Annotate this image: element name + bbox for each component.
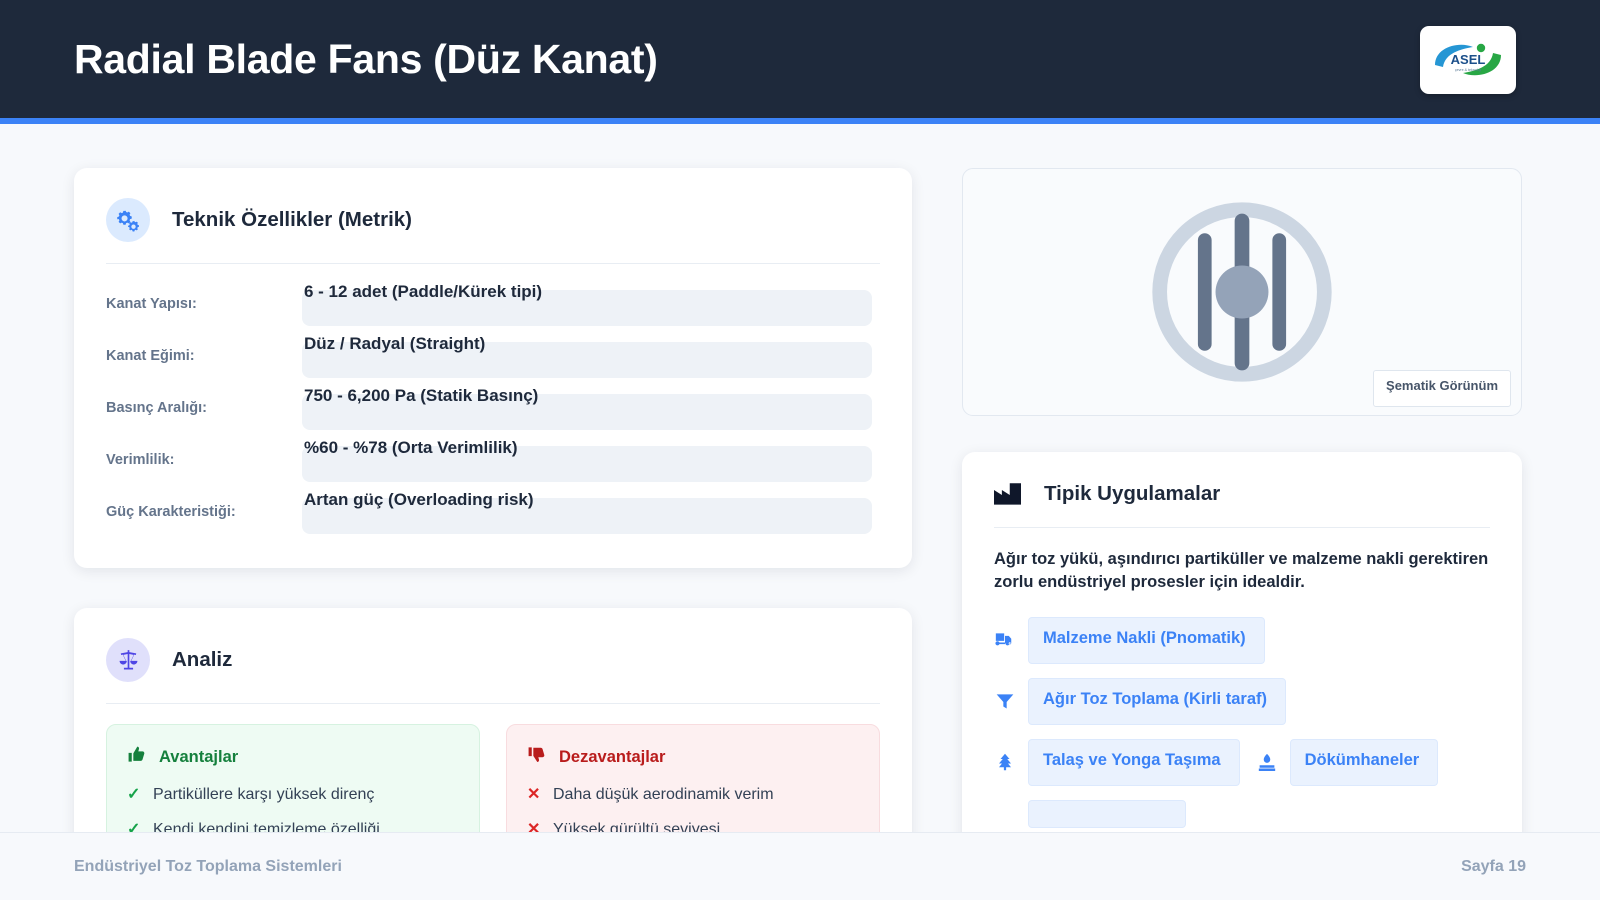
company-logo: ASEL çevre & teknoloji — [1420, 26, 1516, 94]
application-chip[interactable] — [994, 800, 1186, 828]
spec-key: Kanat Yapısı: — [106, 280, 302, 312]
thumbs-down-icon — [527, 745, 546, 769]
spec-key: Verimlilik: — [106, 436, 302, 468]
application-chip[interactable]: Dökümhaneler — [1256, 739, 1439, 786]
truck-loading-icon — [994, 629, 1016, 651]
svg-text:ASEL: ASEL — [1451, 52, 1486, 67]
spec-value: Artan güç (Overloading risk) — [302, 488, 880, 510]
spec-value-wrap: 6 - 12 adet (Paddle/Kürek tipi) — [302, 280, 880, 302]
application-chip[interactable]: Talaş ve Yonga Taşıma — [994, 739, 1240, 786]
page-header: Radial Blade Fans (Düz Kanat) ASEL çevre… — [0, 0, 1600, 118]
analysis-header: Analiz — [106, 638, 880, 682]
left-column: Teknik Özellikler (Metrik) Kanat Yapısı:… — [74, 168, 912, 900]
radial-fan-schematic-icon — [1144, 194, 1340, 390]
advantages-label: Avantajlar — [159, 748, 238, 767]
schematic-caption: Şematik Görünüm — [1373, 370, 1511, 407]
advantage-item: ✓ Partiküllere karşı yüksek direnç — [127, 785, 459, 805]
application-chip-label: Ağır Toz Toplama (Kirli taraf) — [1028, 678, 1286, 725]
gears-icon — [106, 198, 150, 242]
applications-chip-list: Malzeme Nakli (Pnomatik) Ağır Toz Toplam… — [994, 595, 1490, 828]
spec-value-wrap: %60 - %78 (Orta Verimlilik) — [302, 436, 880, 458]
spec-value-wrap: 750 - 6,200 Pa (Statik Basınç) — [302, 384, 880, 406]
footer-page-number: Sayfa 19 — [1461, 858, 1526, 876]
disadvantages-header: Dezavantajlar — [527, 745, 859, 769]
blank-icon — [994, 803, 1016, 825]
spec-row: Basınç Aralığı: 750 - 6,200 Pa (Statik B… — [106, 384, 880, 436]
application-chip-label: Malzeme Nakli (Pnomatik) — [1028, 617, 1265, 664]
spec-key: Kanat Eğimi: — [106, 332, 302, 364]
cross-icon: ✕ — [527, 785, 541, 805]
applications-card: Tipik Uygulamalar Ağır toz yükü, aşındır… — [962, 452, 1522, 856]
advantages-header: Avantajlar — [127, 745, 459, 769]
application-chip-label: Talaş ve Yonga Taşıma — [1028, 739, 1240, 786]
application-chip-label — [1028, 800, 1186, 828]
spec-value: 750 - 6,200 Pa (Statik Basınç) — [302, 384, 880, 406]
thumbs-up-icon — [127, 745, 146, 769]
technical-specs-card: Teknik Özellikler (Metrik) Kanat Yapısı:… — [74, 168, 912, 568]
filter-funnel-icon — [994, 690, 1016, 712]
spec-row: Kanat Yapısı: 6 - 12 adet (Paddle/Kürek … — [106, 280, 880, 332]
application-chip[interactable]: Ağır Toz Toplama (Kirli taraf) — [994, 678, 1286, 725]
schematic-panel: Şematik Görünüm — [962, 168, 1522, 416]
spec-value-wrap: Artan güç (Overloading risk) — [302, 488, 880, 510]
footer-left-text: Endüstriyel Toz Toplama Sistemleri — [74, 858, 342, 876]
applications-header: Tipik Uygulamalar — [994, 482, 1490, 506]
analysis-title: Analiz — [172, 648, 232, 672]
advantage-text: Partiküllere karşı yüksek direnç — [153, 785, 374, 805]
svg-text:çevre & teknoloji: çevre & teknoloji — [1455, 68, 1482, 72]
application-chip[interactable]: Malzeme Nakli (Pnomatik) — [994, 617, 1265, 664]
page-title: Radial Blade Fans (Düz Kanat) — [74, 36, 658, 83]
factory-icon — [994, 483, 1022, 506]
technical-specs-title: Teknik Özellikler (Metrik) — [172, 208, 412, 232]
technical-specs-header: Teknik Özellikler (Metrik) — [106, 198, 880, 242]
applications-title: Tipik Uygulamalar — [1044, 482, 1220, 506]
spec-row: Güç Karakteristiği: Artan güç (Overloadi… — [106, 488, 880, 540]
check-icon: ✓ — [127, 785, 141, 805]
disadvantages-label: Dezavantajlar — [559, 748, 665, 767]
disadvantage-item: ✕ Daha düşük aerodinamik verim — [527, 785, 859, 805]
page-body: Teknik Özellikler (Metrik) Kanat Yapısı:… — [0, 124, 1600, 900]
spec-value: %60 - %78 (Orta Verimlilik) — [302, 436, 880, 458]
spec-value: 6 - 12 adet (Paddle/Kürek tipi) — [302, 280, 880, 302]
spec-value-wrap: Düz / Radyal (Straight) — [302, 332, 880, 354]
spec-key: Basınç Aralığı: — [106, 384, 302, 416]
page-footer: Endüstriyel Toz Toplama Sistemleri Sayfa… — [0, 832, 1600, 900]
right-column: Şematik Görünüm Tipik Uygulamalar Ağır t… — [962, 168, 1522, 900]
tree-icon — [994, 751, 1016, 773]
disadvantage-text: Daha düşük aerodinamik verim — [553, 785, 774, 805]
asel-logo-icon: ASEL çevre & teknoloji — [1429, 35, 1507, 85]
spec-row: Kanat Eğimi: Düz / Radyal (Straight) — [106, 332, 880, 384]
furnace-icon — [1256, 751, 1278, 773]
spec-row: Verimlilik: %60 - %78 (Orta Verimlilik) — [106, 436, 880, 488]
spec-value: Düz / Radyal (Straight) — [302, 332, 880, 354]
applications-description: Ağır toz yükü, aşındırıcı partiküller ve… — [994, 528, 1490, 595]
scales-icon — [106, 638, 150, 682]
application-chip-label: Dökümhaneler — [1290, 739, 1439, 786]
spec-key: Güç Karakteristiği: — [106, 488, 302, 520]
technical-specs-list: Kanat Yapısı: 6 - 12 adet (Paddle/Kürek … — [106, 264, 880, 540]
